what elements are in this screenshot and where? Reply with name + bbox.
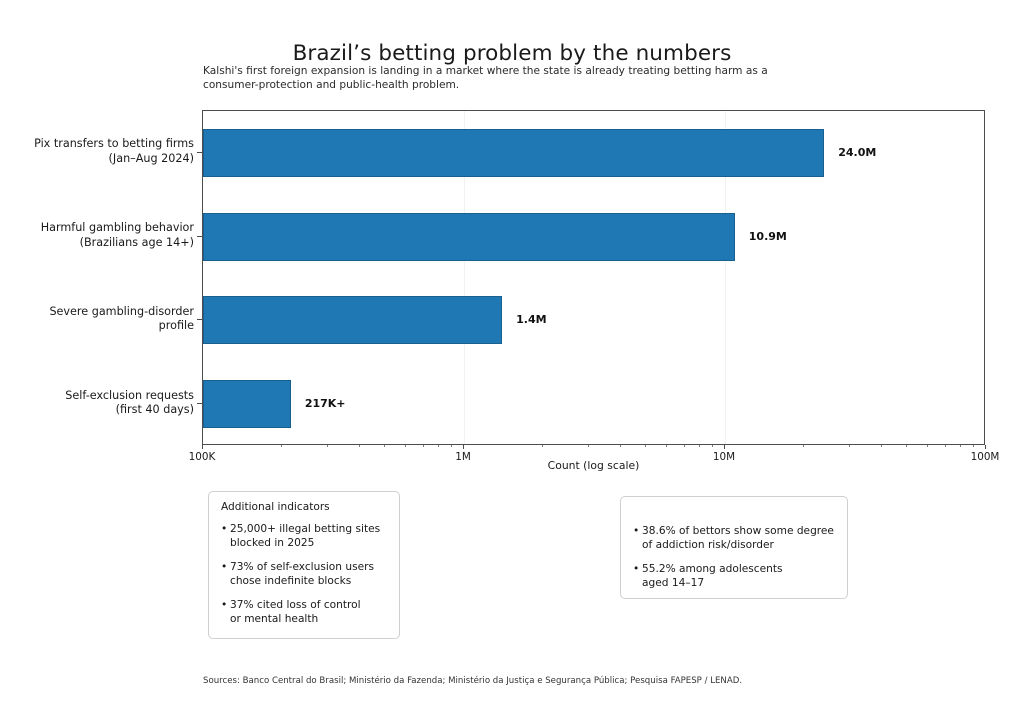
x-axis-tick-minor (405, 445, 406, 447)
x-axis-tick-minor (542, 445, 543, 447)
x-axis-tick-minor (973, 445, 974, 447)
x-axis-tick-minor (588, 445, 589, 447)
bar-value-label: 10.9M (749, 230, 787, 243)
x-axis-tick-minor (423, 445, 424, 447)
x-axis-tick-major (724, 445, 725, 449)
note-item: •55.2% among adolescentsaged 14–17 (633, 563, 839, 590)
x-axis-tick-minor (803, 445, 804, 447)
x-axis-tick-minor (881, 445, 882, 447)
y-axis-label-line: profile (14, 319, 194, 334)
y-axis-label: Pix transfers to betting firms(Jan–Aug 2… (14, 137, 194, 166)
y-axis-tick (197, 403, 202, 404)
y-axis-label-line: (Jan–Aug 2024) (14, 152, 194, 167)
x-axis-tick-minor (384, 445, 385, 447)
x-axis-tick-minor (849, 445, 850, 447)
page-title: Brazil’s betting problem by the numbers (0, 41, 1024, 66)
note-item-line: of addiction risk/disorder (642, 539, 839, 553)
bar (203, 129, 824, 177)
note-item-line: 25,000+ illegal betting sites (230, 523, 391, 537)
x-axis-tick-minor (712, 445, 713, 447)
bar-value-label: 1.4M (516, 313, 546, 326)
note-item: •38.6% of bettors show some degreeof add… (633, 525, 839, 552)
x-axis-tick-minor (945, 445, 946, 447)
x-axis-tick-minor (684, 445, 685, 447)
note-item-line: chose indefinite blocks (230, 575, 391, 589)
note-box-title: Additional indicators (221, 501, 330, 513)
note-item: •73% of self-exclusion userschose indefi… (221, 561, 391, 588)
x-axis-tick-minor (699, 445, 700, 447)
note-item-line: 73% of self-exclusion users (230, 561, 391, 575)
x-axis-tick-minor (620, 445, 621, 447)
note-list: •38.6% of bettors show some degreeof add… (633, 525, 839, 590)
chart-subtitle: Kalshi's first foreign expansion is land… (203, 64, 823, 92)
x-axis-tick-minor (438, 445, 439, 447)
bullet-icon: • (633, 525, 639, 539)
y-axis-label: Harmful gambling behavior(Brazilians age… (14, 221, 194, 250)
y-axis-label-line: Severe gambling-disorder (14, 305, 194, 320)
x-axis-tick-minor (281, 445, 282, 447)
y-axis-label-line: Self-exclusion requests (14, 389, 194, 404)
note-item: •37% cited loss of controlor mental heal… (221, 599, 391, 626)
sources-footnote: Sources: Banco Central do Brasil; Minist… (203, 676, 742, 686)
note-item: •25,000+ illegal betting sitesblocked in… (221, 523, 391, 550)
y-axis-tick (197, 319, 202, 320)
x-axis-tick-minor (927, 445, 928, 447)
bullet-icon: • (221, 523, 227, 537)
y-axis-tick (197, 152, 202, 153)
bar-value-label: 217K+ (305, 397, 346, 410)
bullet-icon: • (633, 563, 639, 577)
bullet-icon: • (221, 561, 227, 575)
y-axis-tick (197, 236, 202, 237)
y-axis-label-line: Harmful gambling behavior (14, 221, 194, 236)
x-axis-tick-minor (666, 445, 667, 447)
note-item-line: 55.2% among adolescents (642, 563, 839, 577)
bar (203, 213, 735, 261)
y-axis-label-line: (Brazilians age 14+) (14, 236, 194, 251)
x-axis-tick-minor (645, 445, 646, 447)
note-item-line: or mental health (230, 613, 391, 627)
x-axis-title: Count (log scale) (202, 459, 985, 472)
bar (203, 296, 502, 344)
note-item-line: blocked in 2025 (230, 537, 391, 551)
x-axis-tick-minor (451, 445, 452, 447)
y-axis-label-line: (first 40 days) (14, 403, 194, 418)
y-axis-label-line: Pix transfers to betting firms (14, 137, 194, 152)
y-axis-label: Severe gambling-disorderprofile (14, 305, 194, 334)
note-list: •25,000+ illegal betting sitesblocked in… (221, 523, 391, 627)
y-axis-label: Self-exclusion requests(first 40 days) (14, 389, 194, 418)
bullet-icon: • (221, 599, 227, 613)
bar-value-label: 24.0M (838, 146, 876, 159)
note-item-line: 37% cited loss of control (230, 599, 391, 613)
x-axis-tick-major (202, 445, 203, 449)
bar (203, 380, 291, 428)
x-axis-tick-minor (960, 445, 961, 447)
x-axis-tick-minor (359, 445, 360, 447)
chart-plot-area: 24.0M10.9M1.4M217K+ (202, 110, 985, 445)
x-axis-tick-major (985, 445, 986, 449)
x-axis-tick-major (463, 445, 464, 449)
addiction-risk-box: •38.6% of bettors show some degreeof add… (620, 496, 848, 599)
additional-indicators-box: Additional indicators •25,000+ illegal b… (208, 491, 400, 639)
x-axis-tick-minor (906, 445, 907, 447)
x-axis-tick-minor (327, 445, 328, 447)
note-item-line: aged 14–17 (642, 577, 839, 591)
note-item-line: 38.6% of bettors show some degree (642, 525, 839, 539)
